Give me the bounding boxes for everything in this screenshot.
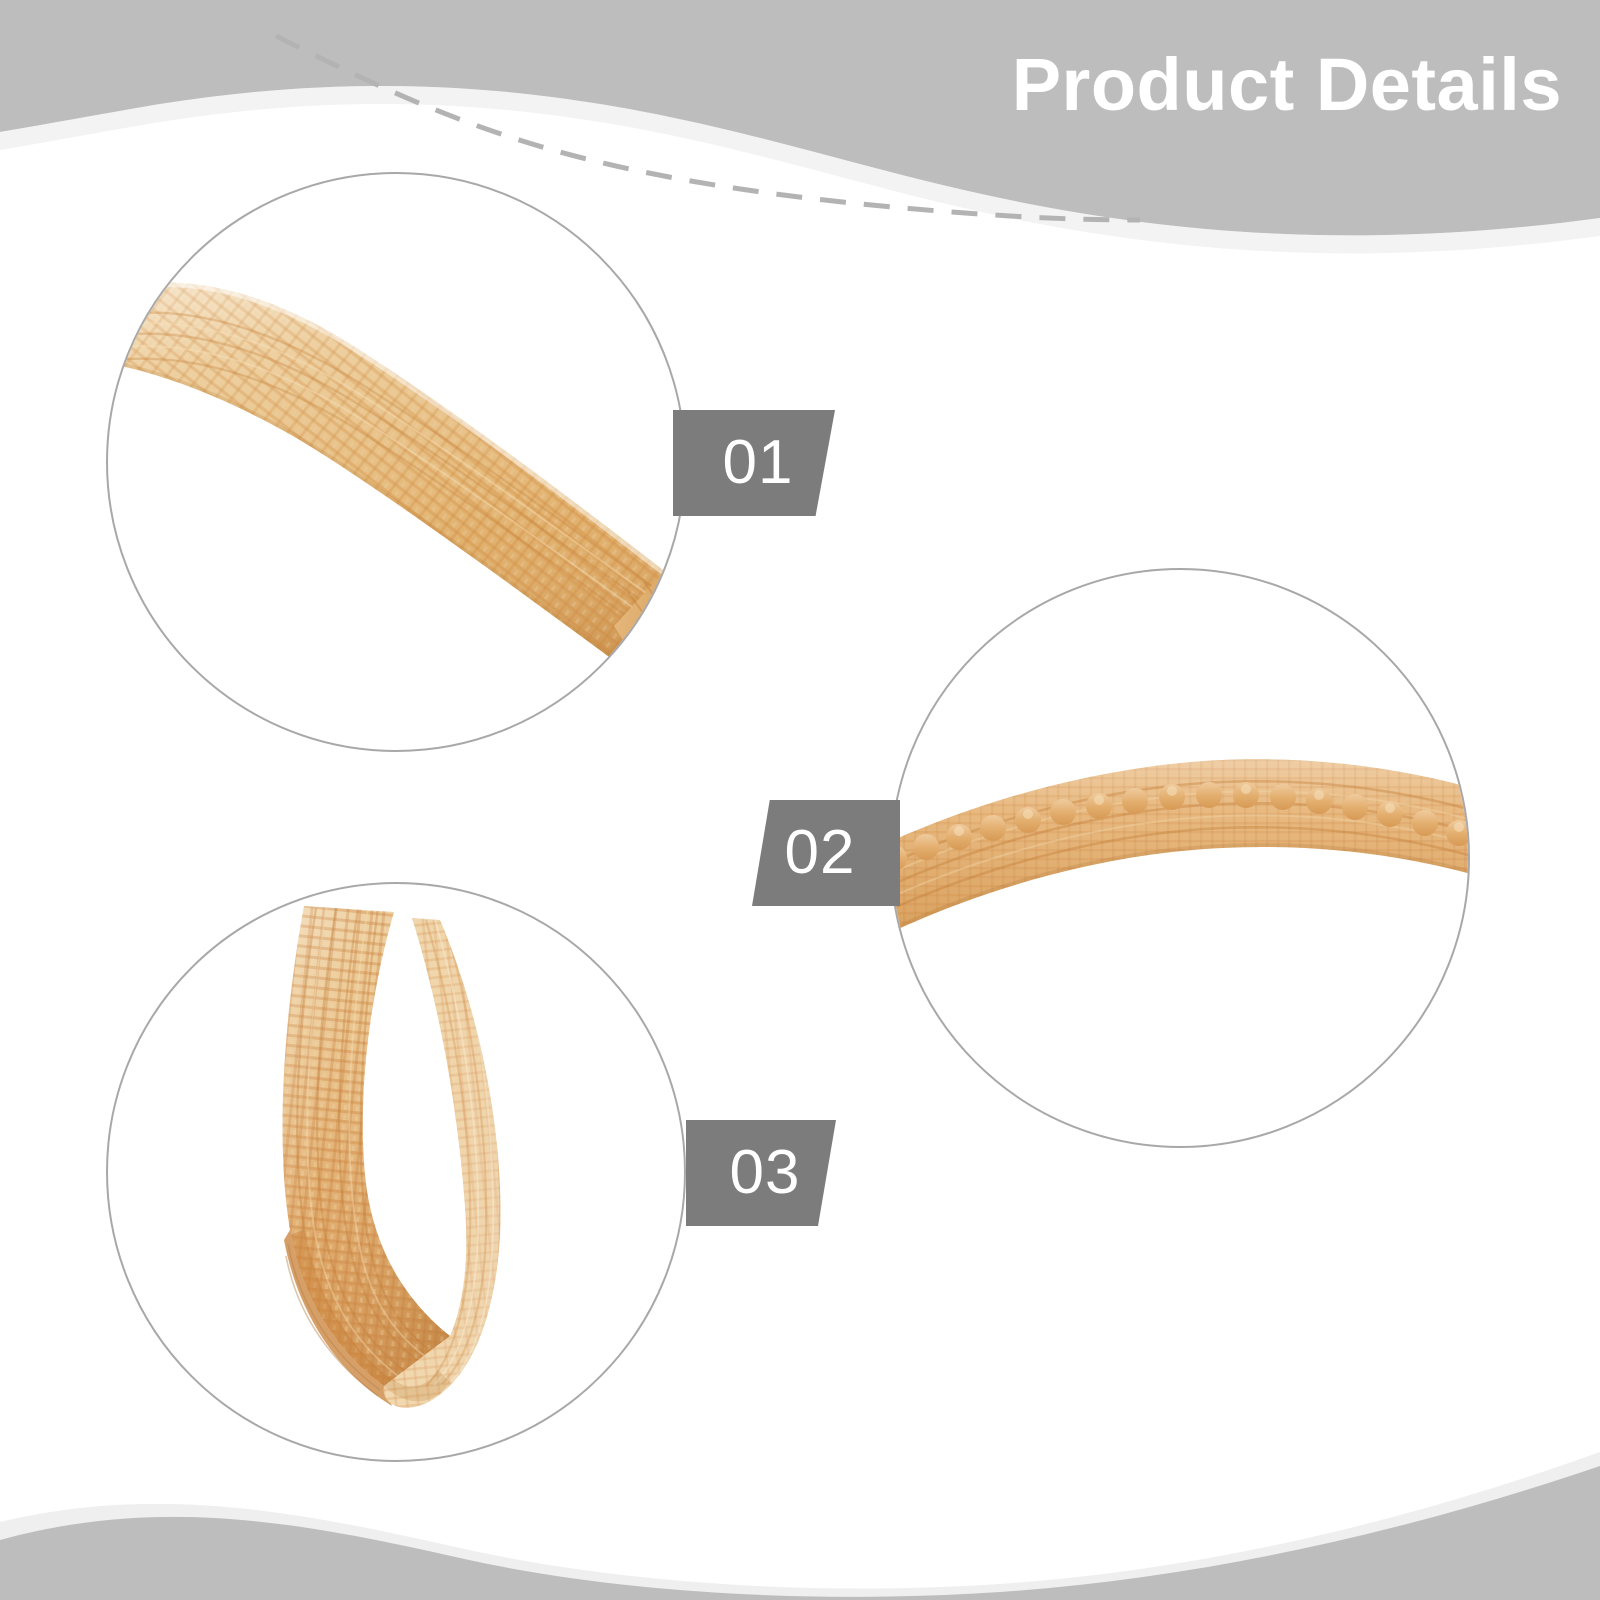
- detail-badge-01-number: 01: [723, 432, 794, 494]
- detail-badge-01[interactable]: 01: [673, 410, 835, 516]
- detail-badge-02[interactable]: 02: [752, 800, 900, 906]
- belt-tooth-profile-photo: [892, 570, 1468, 1146]
- detail-badge-03[interactable]: 03: [686, 1120, 836, 1226]
- footer-wave-shape: [0, 1466, 1600, 1600]
- detail-circle-03: [106, 882, 686, 1462]
- product-details-infographic: Product Details: [0, 0, 1600, 1600]
- belt-flexibility-fold-photo: [108, 884, 684, 1460]
- footer-wave-highlight: [0, 1452, 1600, 1600]
- detail-circle-01: [106, 172, 686, 752]
- detail-circle-02: [890, 568, 1470, 1148]
- detail-badge-02-number: 02: [785, 822, 856, 884]
- belt-surface-closeup-photo: [108, 174, 684, 750]
- page-title: Product Details: [1012, 48, 1562, 122]
- detail-badge-03-number: 03: [730, 1142, 801, 1204]
